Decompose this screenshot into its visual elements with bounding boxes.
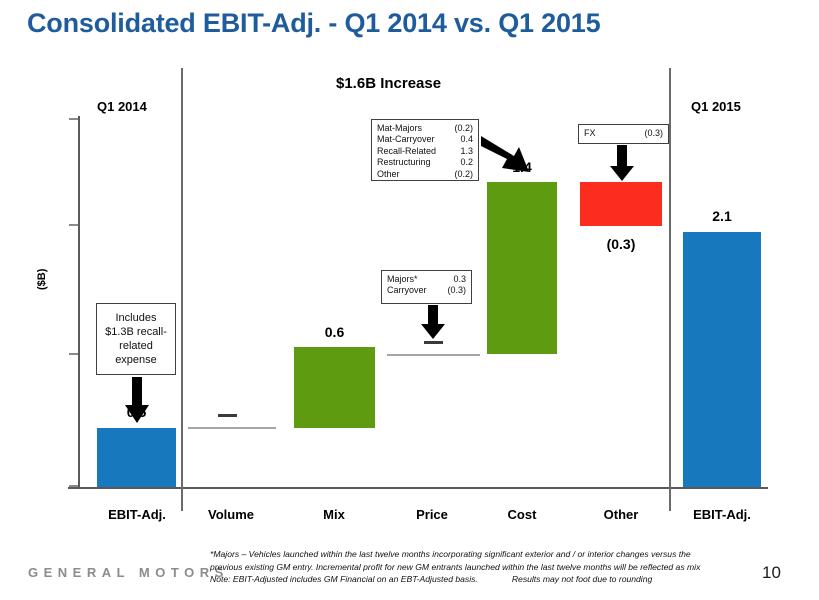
bar-ebit-adj-q1-2015 — [683, 232, 761, 487]
y-axis-tick — [69, 224, 78, 226]
cost-callout-label-3: Restructuring — [377, 157, 440, 168]
footnote-line-3b: Results may not foot due to rounding — [512, 574, 652, 584]
cost-callout: Mat-Majors (0.2) Mat-Carryover 0.4 Recal… — [371, 119, 479, 181]
header-q1-2015: Q1 2015 — [691, 99, 741, 114]
header-q1-2014: Q1 2014 — [97, 99, 147, 114]
arrow-down-icon-q1-2014 — [125, 377, 149, 424]
bar-value-volume-dash — [218, 414, 237, 417]
price-callout-table: Majors* 0.3 Carryover (0.3) — [387, 274, 466, 297]
bar-value-mix: 0.6 — [294, 324, 375, 340]
fx-callout-table: FX (0.3) — [584, 128, 663, 139]
cost-callout-label-2: Recall-Related — [377, 146, 440, 157]
price-callout-value-0: 0.3 — [432, 274, 466, 285]
table-row: Carryover (0.3) — [387, 285, 466, 296]
cost-callout-value-3: 0.2 — [440, 157, 473, 168]
y-axis-label: ($B) — [36, 269, 48, 290]
cost-callout-value-4: (0.2) — [440, 169, 473, 180]
arrow-down-icon-price — [421, 305, 445, 340]
price-callout: Majors* 0.3 Carryover (0.3) — [381, 270, 472, 304]
fx-callout-label-0: FX — [584, 128, 606, 139]
waterfall-chart: ($B) Q1 2014 $1.6B Increase Q1 2015 0.5 … — [0, 0, 819, 600]
x-axis-line — [68, 487, 768, 489]
price-callout-value-1: (0.3) — [432, 285, 466, 296]
footnote-line-2: previous existing GM entry. Incremental … — [210, 561, 770, 574]
table-row: FX (0.3) — [584, 128, 663, 139]
x-axis-label-ebit-adj-left: EBIT-Adj. — [96, 507, 178, 522]
x-axis-label-cost: Cost — [481, 507, 563, 522]
fx-callout: FX (0.3) — [578, 124, 669, 144]
y-axis-tick — [69, 353, 78, 355]
bar-cost — [487, 182, 557, 354]
general-motors-logo: GENERAL MOTORS — [28, 565, 229, 580]
table-row: Other (0.2) — [377, 169, 473, 180]
y-axis-line — [78, 116, 80, 488]
bar-other — [580, 182, 662, 226]
header-increase: $1.6B Increase — [336, 75, 441, 92]
connector-volume — [188, 427, 276, 429]
recall-expense-callout-text: Includes$1.3B recall-relatedexpense — [105, 311, 167, 367]
recall-expense-callout: Includes$1.3B recall-relatedexpense — [96, 303, 176, 375]
bar-mix — [294, 347, 375, 428]
footnote-line-3a: Note: EBIT-Adjusted includes GM Financia… — [210, 574, 478, 584]
table-row: Restructuring 0.2 — [377, 157, 473, 168]
table-row: Mat-Majors (0.2) — [377, 123, 473, 134]
y-axis-tick — [69, 118, 78, 120]
cost-callout-value-2: 1.3 — [440, 146, 473, 157]
bar-value-other: (0.3) — [580, 236, 662, 252]
footnote-line-1: *Majors – Vehicles launched within the l… — [210, 548, 770, 561]
x-axis-label-volume: Volume — [190, 507, 272, 522]
slide-canvas: Consolidated EBIT-Adj. - Q1 2014 vs. Q1 … — [0, 0, 819, 600]
x-axis-label-mix: Mix — [293, 507, 375, 522]
footnote-line-3: Note: EBIT-Adjusted includes GM Financia… — [210, 573, 770, 586]
fx-callout-value-0: (0.3) — [606, 128, 663, 139]
cost-callout-label-4: Other — [377, 169, 440, 180]
price-callout-label-0: Majors* — [387, 274, 432, 285]
arrow-diagonal-icon-cost — [481, 130, 541, 176]
page-number: 10 — [762, 563, 781, 583]
price-callout-label-1: Carryover — [387, 285, 432, 296]
cost-callout-label-0: Mat-Majors — [377, 123, 440, 134]
bar-value-ebit-adj-q1-2015: 2.1 — [683, 208, 761, 224]
table-row: Mat-Carryover 0.4 — [377, 134, 473, 145]
x-axis-label-ebit-adj-right: EBIT-Adj. — [681, 507, 763, 522]
table-row: Majors* 0.3 — [387, 274, 466, 285]
cost-callout-table: Mat-Majors (0.2) Mat-Carryover 0.4 Recal… — [377, 123, 473, 180]
x-axis-label-other: Other — [580, 507, 662, 522]
y-axis-tick — [69, 485, 78, 487]
cost-callout-label-1: Mat-Carryover — [377, 134, 440, 145]
cost-callout-value-0: (0.2) — [440, 123, 473, 134]
x-axis-label-price: Price — [391, 507, 473, 522]
table-row: Recall-Related 1.3 — [377, 146, 473, 157]
arrow-down-icon-fx — [610, 145, 634, 182]
footnote: *Majors – Vehicles launched within the l… — [210, 548, 770, 586]
section-divider-right — [669, 68, 671, 511]
cost-callout-value-1: 0.4 — [440, 134, 473, 145]
section-divider-left — [181, 68, 183, 511]
bar-value-price-dash — [424, 341, 443, 344]
bar-ebit-adj-q1-2014 — [97, 428, 176, 487]
connector-price — [387, 354, 480, 356]
